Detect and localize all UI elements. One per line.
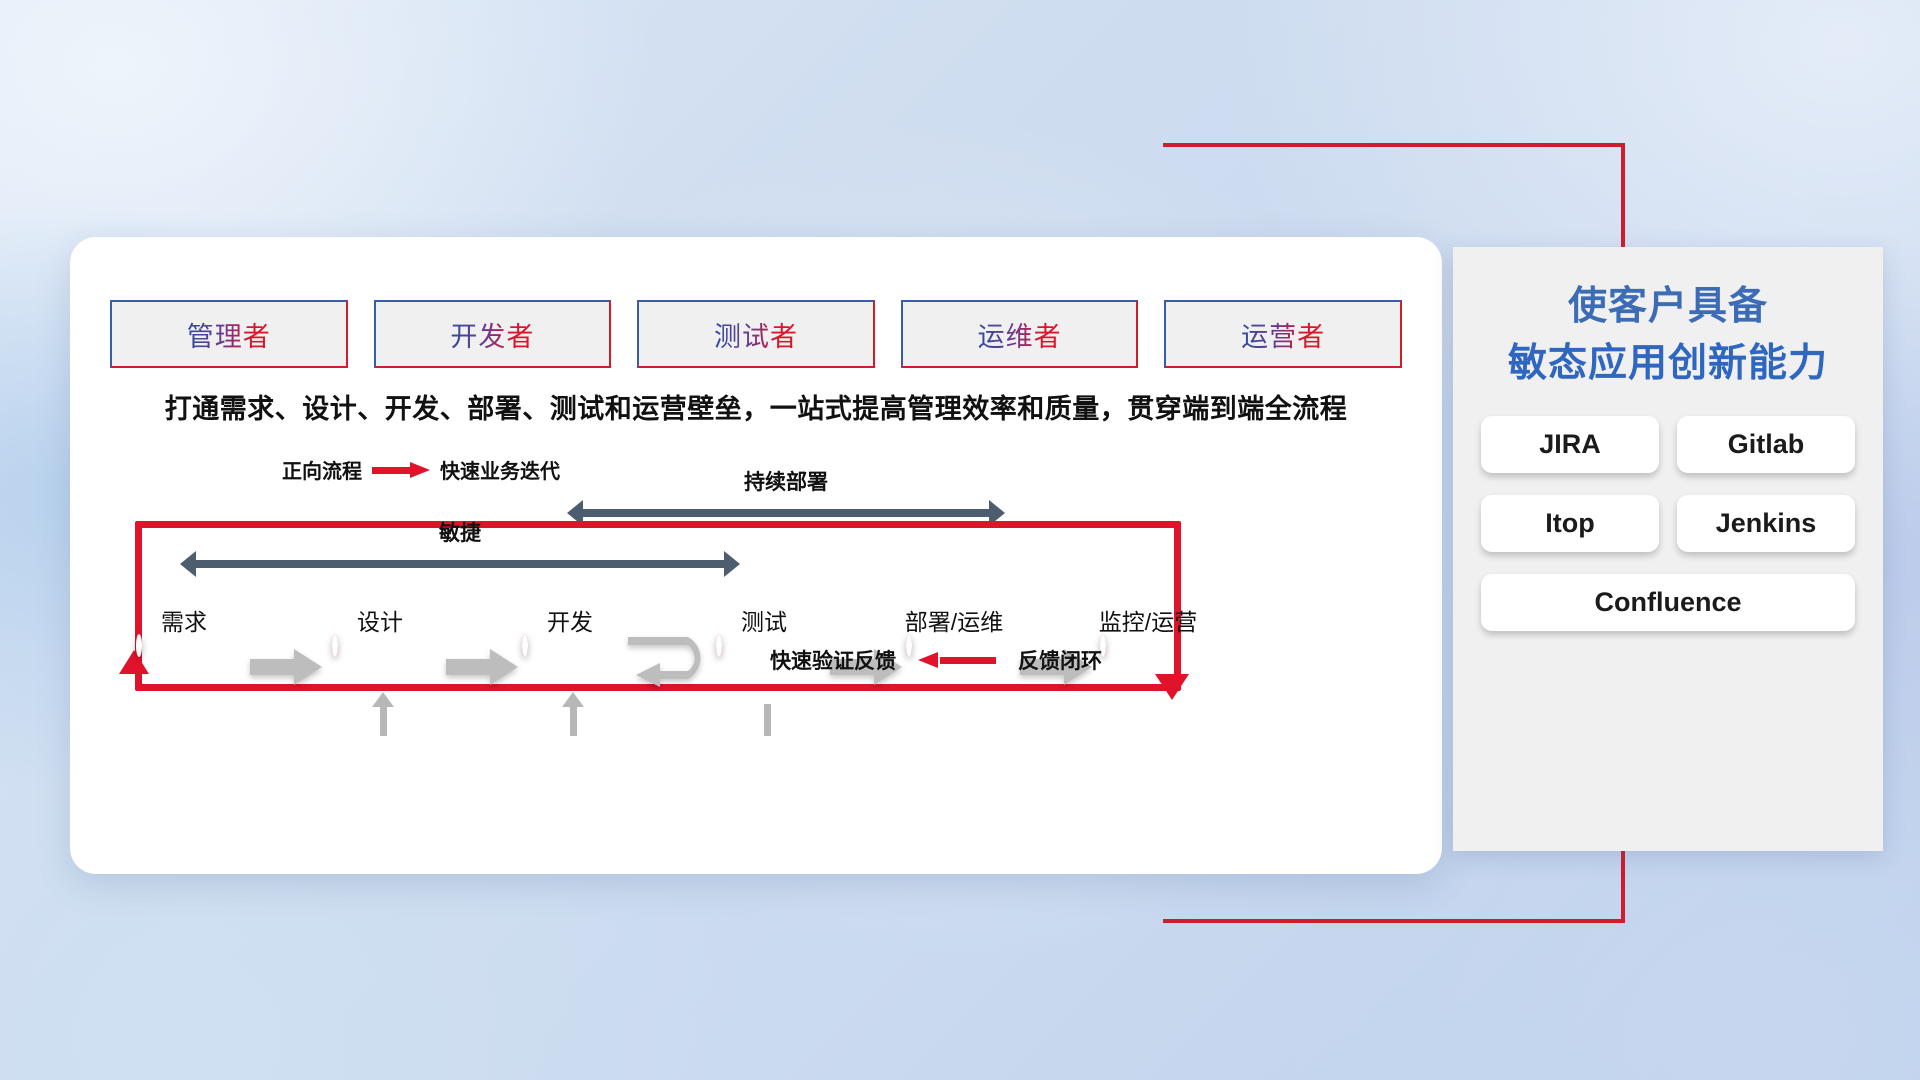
- tool-button-jenkins[interactable]: Jenkins: [1677, 495, 1855, 552]
- arrow-uturn-gray-icon: [626, 637, 726, 697]
- devops-pipeline: 需求 设计 开发 测试 部署: [70, 237, 1442, 874]
- arrow-left-red-icon: [918, 652, 996, 668]
- legend-feedback-right-label: 反馈闭环: [1018, 645, 1102, 675]
- pipeline-stage-develop[interactable]: 开发: [522, 637, 618, 655]
- panel-title-line2: 敏态应用创新能力: [1463, 336, 1873, 393]
- arrow-right-gray-icon: [250, 647, 324, 687]
- pipeline-stage-label: 监控/运营: [1099, 603, 1197, 637]
- pipeline-stage-dot: [136, 634, 142, 657]
- pipeline-stage-dot: [522, 634, 528, 657]
- arrow-right-gray-icon: [446, 647, 520, 687]
- pipeline-stage-dot: [716, 634, 722, 657]
- pipeline-stage-label: 测试: [741, 603, 787, 637]
- pipeline-stage-requirement[interactable]: 需求: [136, 637, 232, 655]
- pipeline-stage-dot: [332, 634, 338, 657]
- pipeline-stage-label: 需求: [161, 603, 207, 637]
- pipeline-stage-monitor-operate[interactable]: 监控/运营: [1100, 637, 1196, 655]
- stem-head-design-icon: [372, 692, 394, 707]
- tool-button-confluence[interactable]: Confluence: [1481, 574, 1855, 631]
- pipeline-stage-label: 设计: [357, 603, 403, 637]
- capability-panel: 使客户具备 敏态应用创新能力 JIRA Gitlab Itop Jenkins …: [1453, 247, 1883, 851]
- tool-button-grid: JIRA Gitlab Itop Jenkins Confluence: [1481, 416, 1855, 631]
- pipeline-stage-label: 部署/运维: [905, 603, 1003, 637]
- tool-button-jira[interactable]: JIRA: [1481, 416, 1659, 473]
- pipeline-stage-design[interactable]: 设计: [332, 637, 428, 655]
- stem-test: [764, 704, 771, 736]
- stem-develop: [570, 704, 577, 736]
- panel-title-line1: 使客户具备: [1568, 285, 1768, 328]
- main-content-card: 管理者 开发者 测试者 运维者 运营者 打通需求、设计、开发、部署、测试和运营壁…: [70, 237, 1442, 874]
- legend-feedback-left-label: 快速验证反馈: [770, 645, 896, 675]
- legend-feedback-loop: 快速验证反馈 反馈闭环: [770, 645, 1102, 675]
- tool-button-itop[interactable]: Itop: [1481, 495, 1659, 552]
- pipeline-stage-label: 开发: [547, 603, 593, 637]
- stem-head-develop-icon: [562, 692, 584, 707]
- stem-design: [380, 704, 387, 736]
- panel-title: 使客户具备 敏态应用创新能力: [1453, 247, 1883, 392]
- tool-button-gitlab[interactable]: Gitlab: [1677, 416, 1855, 473]
